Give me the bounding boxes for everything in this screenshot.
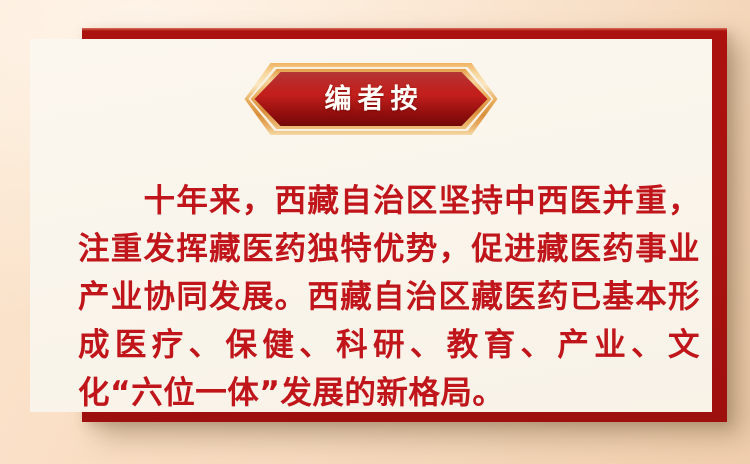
poster-canvas: 编者按 十年来，西藏自治区坚持中西医并重，注重发挥藏医药独特优势，促进藏医药事业… [0, 0, 750, 464]
content-card: 编者按 十年来，西藏自治区坚持中西医并重，注重发挥藏医药独特优势，促进藏医药事业… [30, 39, 712, 412]
badge-label: 编者按 [245, 63, 498, 135]
editors-note-paragraph: 十年来，西藏自治区坚持中西医并重，注重发挥藏医药独特优势，促进藏医药事业产业协同… [78, 177, 700, 417]
editors-note-badge: 编者按 [245, 63, 498, 135]
plate-top-highlight [82, 28, 727, 31]
